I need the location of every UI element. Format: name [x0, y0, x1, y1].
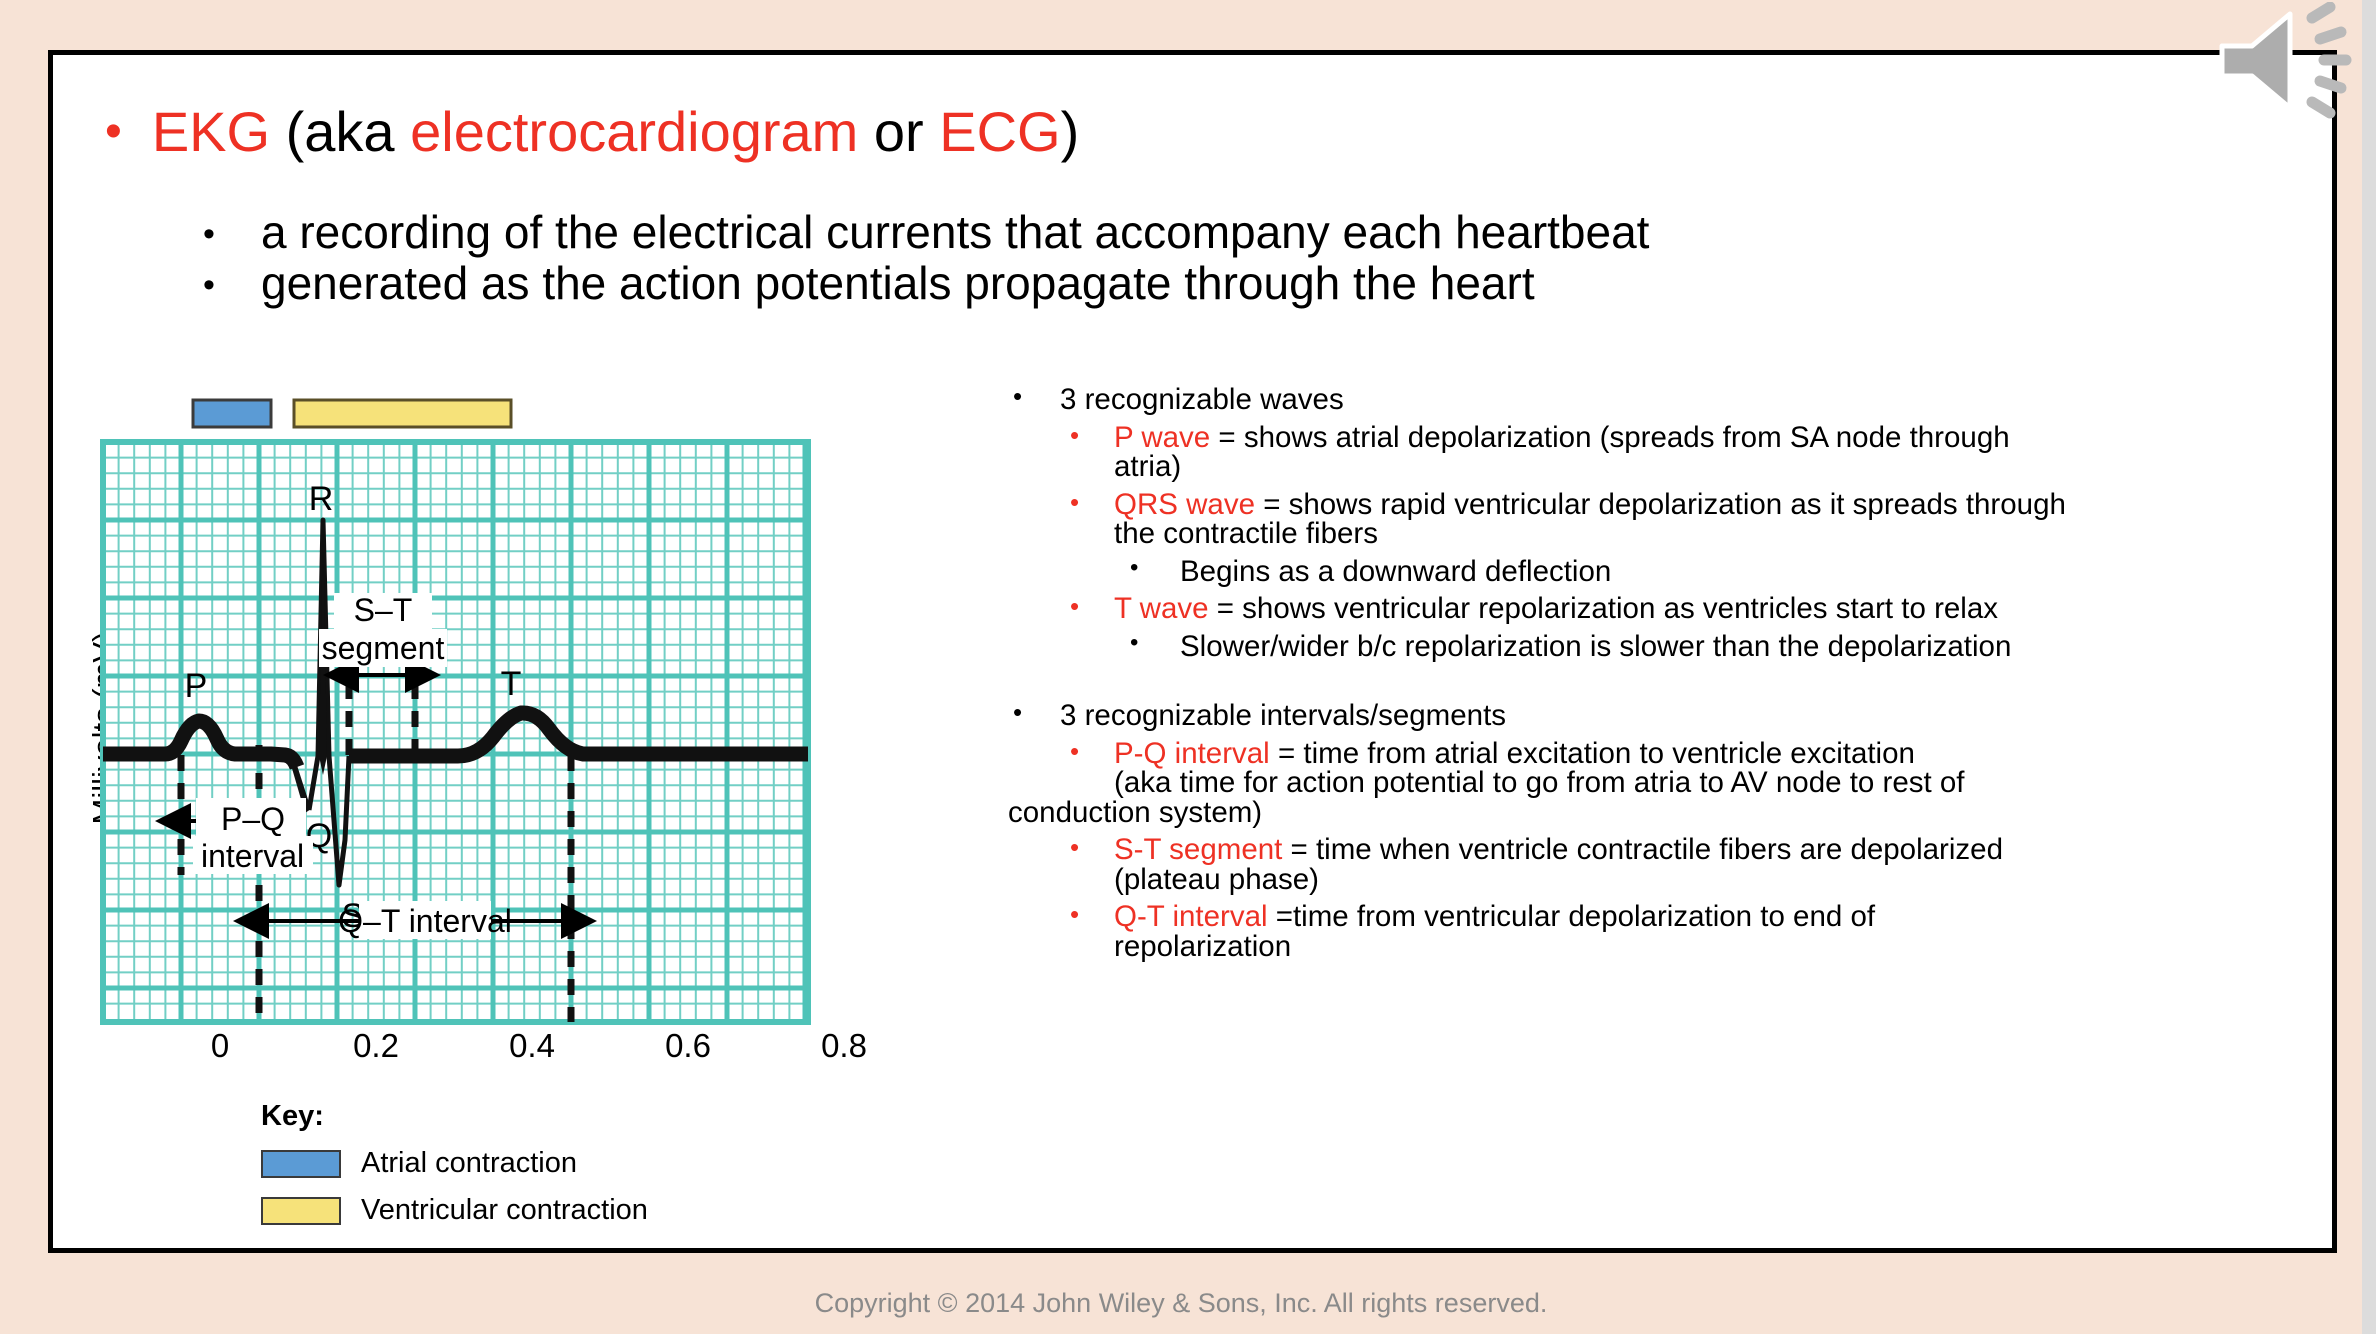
annotation-st-line2: segment	[322, 630, 445, 666]
desc-qrs-wave-cont: the contractile fibers	[1114, 519, 2358, 549]
note-item-p-wave: • P wave = shows atrial depolarization (…	[1008, 423, 2358, 482]
annotation-st-line1: S–T	[354, 592, 413, 628]
note-item-qrs-wave: • QRS wave = shows rapid ventricular dep…	[1008, 490, 2358, 549]
note-item-t-wave: • T wave = shows ventricular repolarizat…	[1008, 594, 2358, 624]
bullet-icon: •	[1070, 593, 1079, 619]
bullet-icon: •	[1070, 422, 1079, 448]
chart-key: Key: Atrial contraction Ventricular cont…	[261, 1100, 648, 1227]
desc-qt-interval-cont: repolarization	[1114, 932, 2358, 962]
wave-label-t: T	[501, 665, 522, 703]
desc-t-wave: = shows ventricular repolarization as ve…	[1209, 592, 1998, 625]
title-ecg: ECG	[939, 100, 1060, 163]
subtitle-text-1: a recording of the electrical currents t…	[261, 206, 1649, 258]
key-swatch-atrial	[261, 1150, 341, 1178]
subtitle-line-1: •a recording of the electrical currents …	[203, 205, 1649, 259]
notes-heading-intervals-label: 3 recognizable intervals/segments	[1060, 699, 1506, 732]
note-item-pq-interval: • P-Q interval = time from atrial excita…	[1008, 739, 2358, 828]
notes-heading-waves-label: 3 recognizable waves	[1060, 383, 1344, 416]
ekg-chart: Millivolts (mV) 1.0 0.5 0 −0.5 0 0.2 0.4…	[53, 355, 1003, 1255]
title-bullet-icon: •	[105, 105, 122, 158]
bullet-icon: •	[1130, 556, 1138, 580]
notes-heading-intervals: • 3 recognizable intervals/segments	[1008, 701, 2358, 731]
note-subitem-t-slower: • Slower/wider b/c repolarization is slo…	[1008, 632, 2358, 662]
bullet-icon: •	[1070, 489, 1079, 515]
desc-pq-interval-cont: (aka time for action potential to go fro…	[1114, 768, 2358, 798]
desc-st-segment-cont: (plateau phase)	[1114, 865, 2358, 895]
term-pq-interval: P-Q interval	[1114, 737, 1270, 770]
subtitle-line-2: •generated as the action potentials prop…	[203, 256, 1535, 310]
scrollbar-gutter[interactable]	[2362, 0, 2376, 1334]
bullet-icon: •	[1130, 631, 1138, 655]
term-st-segment: S-T segment	[1114, 833, 1282, 866]
chart-svg: P R Q S T S–T segment P–Q interval	[53, 355, 1003, 1075]
title-ekg: EKG	[152, 100, 270, 163]
title-or: or	[858, 100, 939, 163]
note-subitem-qrs-deflection: • Begins as a downward deflection	[1008, 557, 2358, 587]
slide-root: •EKG (aka electrocardiogram or ECG) •a r…	[0, 0, 2376, 1334]
term-t-wave: T wave	[1114, 592, 1209, 625]
bullet-icon: •	[1070, 738, 1079, 764]
term-p-wave: P wave	[1114, 421, 1210, 454]
desc-pq-interval: = time from atrial excitation to ventric…	[1270, 737, 1915, 770]
bullet-icon: •	[1013, 383, 1022, 409]
notes-spacer	[1008, 661, 2358, 701]
term-qt-interval: Q-T interval	[1114, 900, 1268, 933]
key-item-ventricular: Ventricular contraction	[261, 1194, 648, 1227]
desc-pq-interval-cont2: conduction system)	[1008, 798, 2358, 828]
desc-qrs-wave: = shows rapid ventricular depolarization…	[1255, 488, 2066, 521]
wave-label-r: R	[309, 480, 334, 518]
term-qrs-wave: QRS wave	[1114, 488, 1255, 521]
bullet-icon: •	[1070, 834, 1079, 860]
annotation-pq-line2: interval	[201, 838, 304, 874]
title-aka: (aka	[270, 100, 410, 163]
key-label-ventricular: Ventricular contraction	[361, 1194, 648, 1227]
ventricular-contraction-bar	[294, 400, 511, 427]
desc-st-segment: = time when ventricle contractile fibers…	[1282, 833, 2003, 866]
atrial-contraction-bar	[193, 400, 271, 427]
desc-qt-interval: =time from ventricular depolarization to…	[1268, 900, 1876, 933]
bullet-icon: •	[1070, 901, 1079, 927]
subtitle-bullet-icon-1: •	[203, 215, 261, 254]
desc-p-wave-cont: atria)	[1114, 452, 2358, 482]
slide-content-box: •EKG (aka electrocardiogram or ECG) •a r…	[48, 50, 2337, 1253]
note-item-st-segment: • S-T segment = time when ventricle cont…	[1008, 835, 2358, 894]
annotation-pq-line1: P–Q	[221, 801, 285, 837]
copyright-notice: Copyright © 2014 John Wiley & Sons, Inc.…	[0, 1288, 2362, 1319]
note-subitem-qrs-deflection-label: Begins as a downward deflection	[1180, 555, 1611, 588]
key-label-atrial: Atrial contraction	[361, 1147, 577, 1180]
bullet-icon: •	[1013, 699, 1022, 725]
annotation-qt: Q–T interval	[338, 903, 512, 939]
key-item-atrial: Atrial contraction	[261, 1147, 648, 1180]
key-swatch-ventricular	[261, 1197, 341, 1225]
title-electrocardiogram: electrocardiogram	[410, 100, 858, 163]
speaker-icon[interactable]	[2212, 2, 2362, 120]
note-item-qt-interval: • Q-T interval =time from ventricular de…	[1008, 902, 2358, 961]
desc-p-wave: = shows atrial depolarization (spreads f…	[1210, 421, 2009, 454]
notes-heading-waves: • 3 recognizable waves	[1008, 385, 2358, 415]
notes-column: • 3 recognizable waves • P wave = shows …	[1008, 385, 2358, 961]
wave-label-p: P	[185, 667, 208, 705]
note-subitem-t-slower-label: Slower/wider b/c repolarization is slowe…	[1180, 630, 2011, 663]
key-title: Key:	[261, 1100, 648, 1133]
subtitle-bullet-icon-2: •	[203, 266, 261, 305]
page-title: •EKG (aka electrocardiogram or ECG)	[105, 103, 2205, 162]
subtitle-text-2: generated as the action potentials propa…	[261, 257, 1535, 309]
title-close-paren: )	[1061, 100, 1080, 163]
